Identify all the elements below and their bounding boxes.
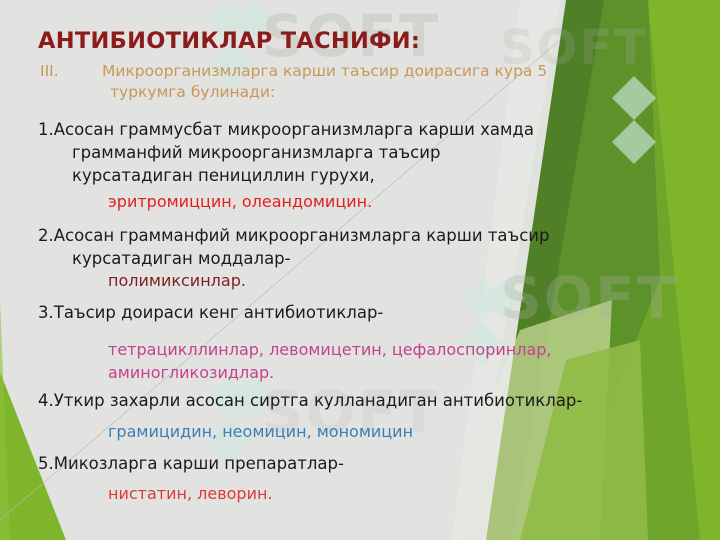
item-1-line-1: 1.Асосан граммусбат микроорганизмларга к… <box>38 118 698 141</box>
list-item-1: 1.Асосан граммусбат микроорганизмларга к… <box>38 118 698 187</box>
list-item-4: 4.Уткир захарли асосан сиртга кулланадиг… <box>38 389 698 412</box>
slide-canvas: SOFT SOFT SOFT SOFT АНТИБИОТИКЛАР ТАСНИФ… <box>0 0 720 540</box>
list-item-5: 5.Микозларга карши препаратлар- <box>38 452 698 475</box>
item-4-drugs: грамицидин, неомицин, мономицин <box>100 420 413 443</box>
item-2-drugs: полимиксинлар. <box>100 269 246 292</box>
item-1-line-3: курсатадиган пенициллин гурухи, <box>38 164 698 187</box>
list-item-3: 3.Таъсир доираси кенг антибиотиклар- <box>38 301 698 324</box>
roman-marker: III. <box>40 61 102 82</box>
item-4-highlight: грамицидин, неомицин, мономицин <box>100 420 413 443</box>
item-1-drugs: эритромиццин, олеандомицин. <box>100 190 372 213</box>
slide-title: АНТИБИОТИКЛАР ТАСНИФИ: <box>38 28 420 54</box>
item-2-highlight: полимиксинлар. <box>100 269 246 292</box>
item-3-drugs-2: аминогликозидлар. <box>100 361 551 384</box>
item-5-drugs: нистатин, леворин. <box>100 482 273 505</box>
item-5-highlight: нистатин, леворин. <box>100 482 273 505</box>
item-2-line-2: курсатадиган моддалар- <box>38 247 698 270</box>
roman-text: Микроорганизмларга карши таъсир доирасиг… <box>102 61 672 103</box>
item-1-line-2: грамманфий микроорганизмларга таъсир <box>38 141 698 164</box>
item-2-line-1: 2.Асосан грамманфий микроорганизмларга к… <box>38 224 698 247</box>
item-3-drugs: тетрацикллинлар, левомицетин, цефалоспор… <box>100 338 551 361</box>
item-1-highlight: эритромиццин, олеандомицин. <box>100 190 372 213</box>
item-3-highlight: тетрацикллинлар, левомицетин, цефалоспор… <box>100 338 551 384</box>
item-5-line-1: 5.Микозларга карши препаратлар- <box>38 452 698 475</box>
roman-numeral-bullet: III.Микроорганизмларга карши таъсир доир… <box>40 61 690 103</box>
slide-content: АНТИБИОТИКЛАР ТАСНИФИ: III.Микроорганизм… <box>0 0 720 540</box>
item-4-line-1: 4.Уткир захарли асосан сиртга кулланадиг… <box>38 389 698 412</box>
list-item-2: 2.Асосан грамманфий микроорганизмларга к… <box>38 224 698 270</box>
roman-line-2: туркумга булинади: <box>102 82 672 103</box>
item-3-line-1: 3.Таъсир доираси кенг антибиотиклар- <box>38 301 698 324</box>
roman-line-1: Микроорганизмларга карши таъсир доирасиг… <box>102 62 547 80</box>
